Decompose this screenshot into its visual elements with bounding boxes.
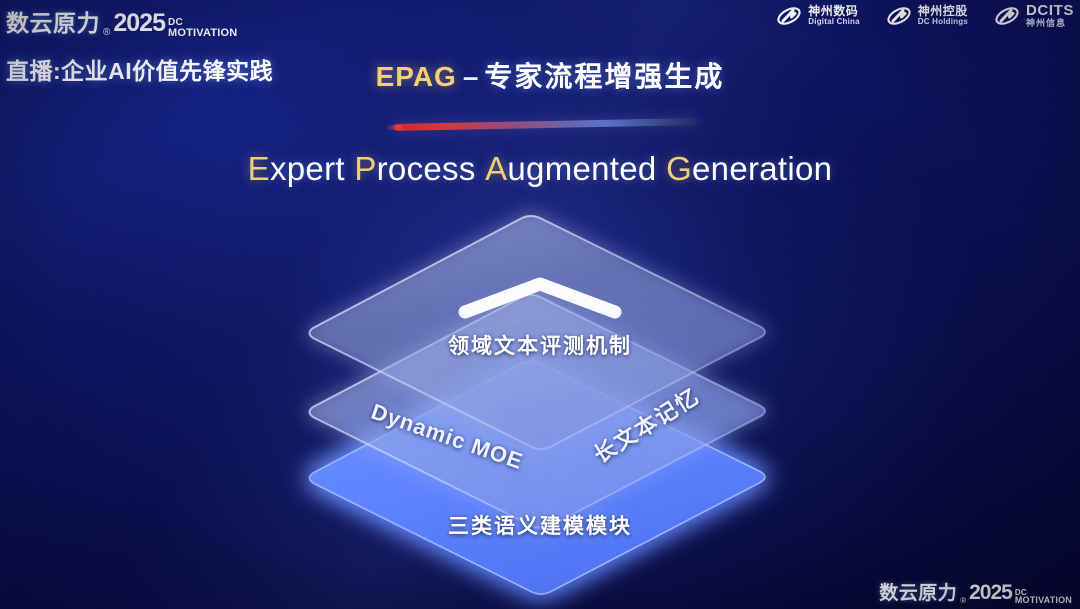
title-dash: – (457, 61, 485, 92)
brand-logo: 数云原力 ® 2025 DC MOTIVATION (6, 4, 237, 38)
title-acronym: EPAG (376, 61, 457, 92)
subtitle-cap-g: G (666, 150, 692, 187)
partner-logo-digital-china: 神州数码 Digital China (776, 4, 860, 28)
partner-name-cn: 神州数码 (808, 5, 860, 18)
registered-mark-icon: ® (103, 27, 110, 38)
partner-logos: 神州数码 Digital China 神州控股 DC Holdings (776, 3, 1074, 28)
partner-name-cn: DCITS (1026, 3, 1074, 19)
swoosh-icon (994, 4, 1020, 28)
subtitle: Expert Process Augmented Generation (0, 150, 1080, 188)
layer-label-bottom: 三类语义建模模块 (0, 510, 1080, 540)
swoosh-icon (776, 4, 802, 28)
partner-name-cn: 神州控股 (918, 5, 968, 18)
partner-logo-dcits: DCITS 神州信息 (994, 3, 1074, 28)
brand-logo-year: 2025 (113, 9, 165, 38)
partner-name-en: 神州信息 (1026, 19, 1074, 28)
chevron-up-icon (455, 275, 625, 320)
watermark-year: 2025 (969, 581, 1012, 605)
slide-canvas: 数云原力 ® 2025 DC MOTIVATION 直播:企业AI价值先锋实践 … (0, 0, 1080, 609)
subtitle-rest-process: rocess (377, 150, 476, 187)
title-chinese: 专家流程增强生成 (484, 61, 724, 92)
subtitle-rest-augmented: ugmented (507, 150, 656, 187)
swoosh-icon (886, 4, 912, 28)
partner-label: 神州控股 DC Holdings (918, 5, 968, 26)
subtitle-rest-generation: eneration (692, 150, 832, 187)
watermark-dc-motivation: DC MOTIVATION (1015, 589, 1072, 605)
top-bar: 数云原力 ® 2025 DC MOTIVATION 直播:企业AI价值先锋实践 … (0, 0, 1080, 44)
page-title: EPAG–专家流程增强生成 (0, 55, 1080, 95)
brand-logo-dc-motivation: DC MOTIVATION (168, 18, 237, 38)
brand-watermark: 数云原力 ® 2025 DC MOTIVATION (879, 578, 1072, 605)
watermark-cn: 数云原力 (879, 578, 957, 605)
layer-label-top: 领域文本评测机制 (0, 330, 1080, 360)
partner-label: 神州数码 Digital China (808, 5, 860, 26)
partner-logo-dc-holdings: 神州控股 DC Holdings (886, 4, 968, 28)
subtitle-rest-expert: xpert (270, 150, 345, 187)
brand-logo-motivation: MOTIVATION (168, 28, 237, 38)
title-divider (394, 118, 698, 131)
partner-name-en: DC Holdings (918, 18, 968, 26)
partner-label: DCITS 神州信息 (1026, 3, 1074, 28)
partner-name-en: Digital China (808, 18, 860, 26)
subtitle-cap-p: P (354, 150, 376, 187)
subtitle-cap-e: E (248, 150, 270, 187)
subtitle-cap-a: A (485, 150, 507, 187)
brand-logo-cn: 数云原力 (6, 4, 100, 38)
watermark-motivation: MOTIVATION (1015, 596, 1072, 605)
watermark-registered-mark-icon: ® (960, 596, 966, 605)
